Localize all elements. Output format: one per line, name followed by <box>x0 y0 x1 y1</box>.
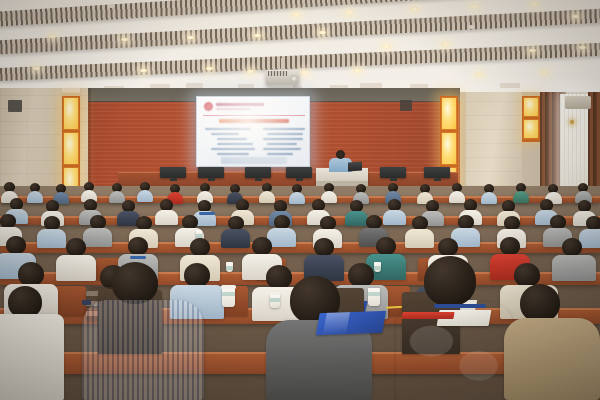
ceiling-downlight <box>253 33 262 38</box>
screen-glow <box>197 97 309 166</box>
person-head <box>520 284 560 322</box>
person-torso <box>56 255 96 281</box>
person-torso <box>289 192 305 204</box>
person-head <box>266 265 292 289</box>
light-panel-segment <box>63 97 79 130</box>
light-panel-segment <box>441 97 457 130</box>
blue-folder <box>316 311 386 335</box>
ceiling-downlight <box>530 2 539 7</box>
person-head <box>182 215 198 229</box>
person-head <box>314 238 334 256</box>
person-head <box>500 237 520 255</box>
paper-cup <box>374 262 381 272</box>
lanyard <box>434 304 486 308</box>
person-head <box>184 263 210 287</box>
person-head <box>366 215 382 229</box>
person-torso <box>259 191 275 203</box>
person-torso <box>0 314 64 400</box>
amber-light-column-left <box>62 96 80 200</box>
ceiling-downlight <box>571 14 580 19</box>
ceiling-downlight <box>300 70 309 75</box>
ceiling-downlight <box>205 66 214 71</box>
ceiling-downlight <box>475 72 484 77</box>
ceiling-downlight <box>186 35 195 40</box>
window-lamp-glow <box>570 120 574 124</box>
light-panel-segment <box>441 132 457 165</box>
person-torso <box>449 191 465 203</box>
person-head <box>320 216 336 230</box>
paper-cup <box>270 294 280 308</box>
person-torso <box>481 192 497 204</box>
person-torso <box>579 229 600 248</box>
person-torso <box>345 211 368 226</box>
wall-speaker-right <box>400 100 412 111</box>
person-head <box>348 263 374 287</box>
ceiling-downlight <box>292 12 301 17</box>
lanyard <box>199 212 215 215</box>
desk-monitor-stand <box>208 178 215 181</box>
paper-cup <box>226 262 233 272</box>
stone-pier-right <box>466 92 522 200</box>
person-head <box>228 216 244 230</box>
ceiling-downlight <box>48 34 57 39</box>
person-torso <box>383 210 406 225</box>
ceiling-downlight <box>528 48 537 53</box>
person-head <box>412 216 428 230</box>
desk-monitor <box>286 167 312 178</box>
person-head <box>550 215 566 229</box>
projector-vent <box>268 71 287 76</box>
ceiling-downlight <box>139 68 148 73</box>
ceiling-downlight <box>382 44 391 49</box>
cup-lid <box>221 285 236 289</box>
ceiling-downlight <box>318 30 327 35</box>
paper-cup <box>368 288 380 306</box>
person-torso <box>83 228 112 247</box>
wall-speaker-left <box>8 100 22 112</box>
person-torso-pinstripe <box>82 300 204 400</box>
person-head <box>274 215 290 229</box>
desk-monitor-stand <box>434 178 441 181</box>
ceiling-downlight <box>32 66 41 71</box>
person-head <box>0 214 16 228</box>
person-head <box>376 237 396 255</box>
person-head <box>128 237 148 255</box>
person-torso <box>27 191 43 203</box>
person-torso <box>513 191 529 203</box>
person-head <box>586 216 600 230</box>
person-head <box>66 238 86 256</box>
person-head <box>562 238 582 256</box>
person-head <box>190 238 210 256</box>
lanyard <box>130 256 146 259</box>
desk-monitor <box>160 167 186 178</box>
desk-monitor <box>198 167 224 178</box>
ceiling-downlight <box>353 68 362 73</box>
ceiling-downlight <box>246 69 255 74</box>
ceiling-downlight <box>540 70 549 75</box>
person-torso <box>155 210 178 225</box>
projector-lens <box>290 75 298 82</box>
light-panel-segment <box>523 97 539 117</box>
red-booklet <box>401 312 454 319</box>
person-head <box>424 256 476 306</box>
person-head <box>112 262 158 304</box>
person-head <box>458 215 474 229</box>
person-head <box>6 236 26 254</box>
person-head <box>18 262 44 286</box>
person-head <box>504 216 520 230</box>
desk-monitor <box>245 167 271 178</box>
person-torso <box>504 318 600 400</box>
person-torso <box>37 229 66 248</box>
desk-monitor-stand <box>170 178 177 181</box>
mobile-phone <box>82 300 91 305</box>
amber-light-column-right <box>522 96 540 142</box>
light-panel-segment <box>63 132 79 165</box>
person-torso <box>405 229 434 248</box>
desk-monitor-stand <box>296 178 303 181</box>
light-panel-segment <box>523 119 539 139</box>
presenter-head <box>336 150 345 159</box>
paper-cup <box>222 288 235 307</box>
desk-monitor-stand <box>255 178 262 181</box>
projection-screen <box>196 96 310 167</box>
ceiling-downlight <box>470 4 479 9</box>
ceiling-downlight <box>441 42 450 47</box>
person-head <box>136 216 152 230</box>
person-head <box>252 237 272 255</box>
cup-lid <box>269 292 280 295</box>
wall-air-conditioner <box>565 96 591 109</box>
ceiling-fixture <box>108 4 115 8</box>
person-head <box>438 238 458 256</box>
ceiling-fixture <box>468 25 475 29</box>
person-torso <box>221 229 250 248</box>
ceiling-downlight <box>578 45 587 50</box>
ceiling-downlight <box>120 37 129 42</box>
conference-hall-photo <box>0 0 600 400</box>
person-torso <box>552 255 596 281</box>
person-torso <box>137 190 153 202</box>
ceiling-downlight <box>410 7 419 12</box>
person-head <box>90 215 106 229</box>
ceiling-downlight <box>345 10 354 15</box>
desk-monitor <box>424 167 450 178</box>
ceiling <box>0 0 600 92</box>
desk-monitor <box>380 167 406 178</box>
presenter-laptop <box>348 162 362 172</box>
desk-monitor-stand <box>390 178 397 181</box>
person-head <box>44 216 60 230</box>
